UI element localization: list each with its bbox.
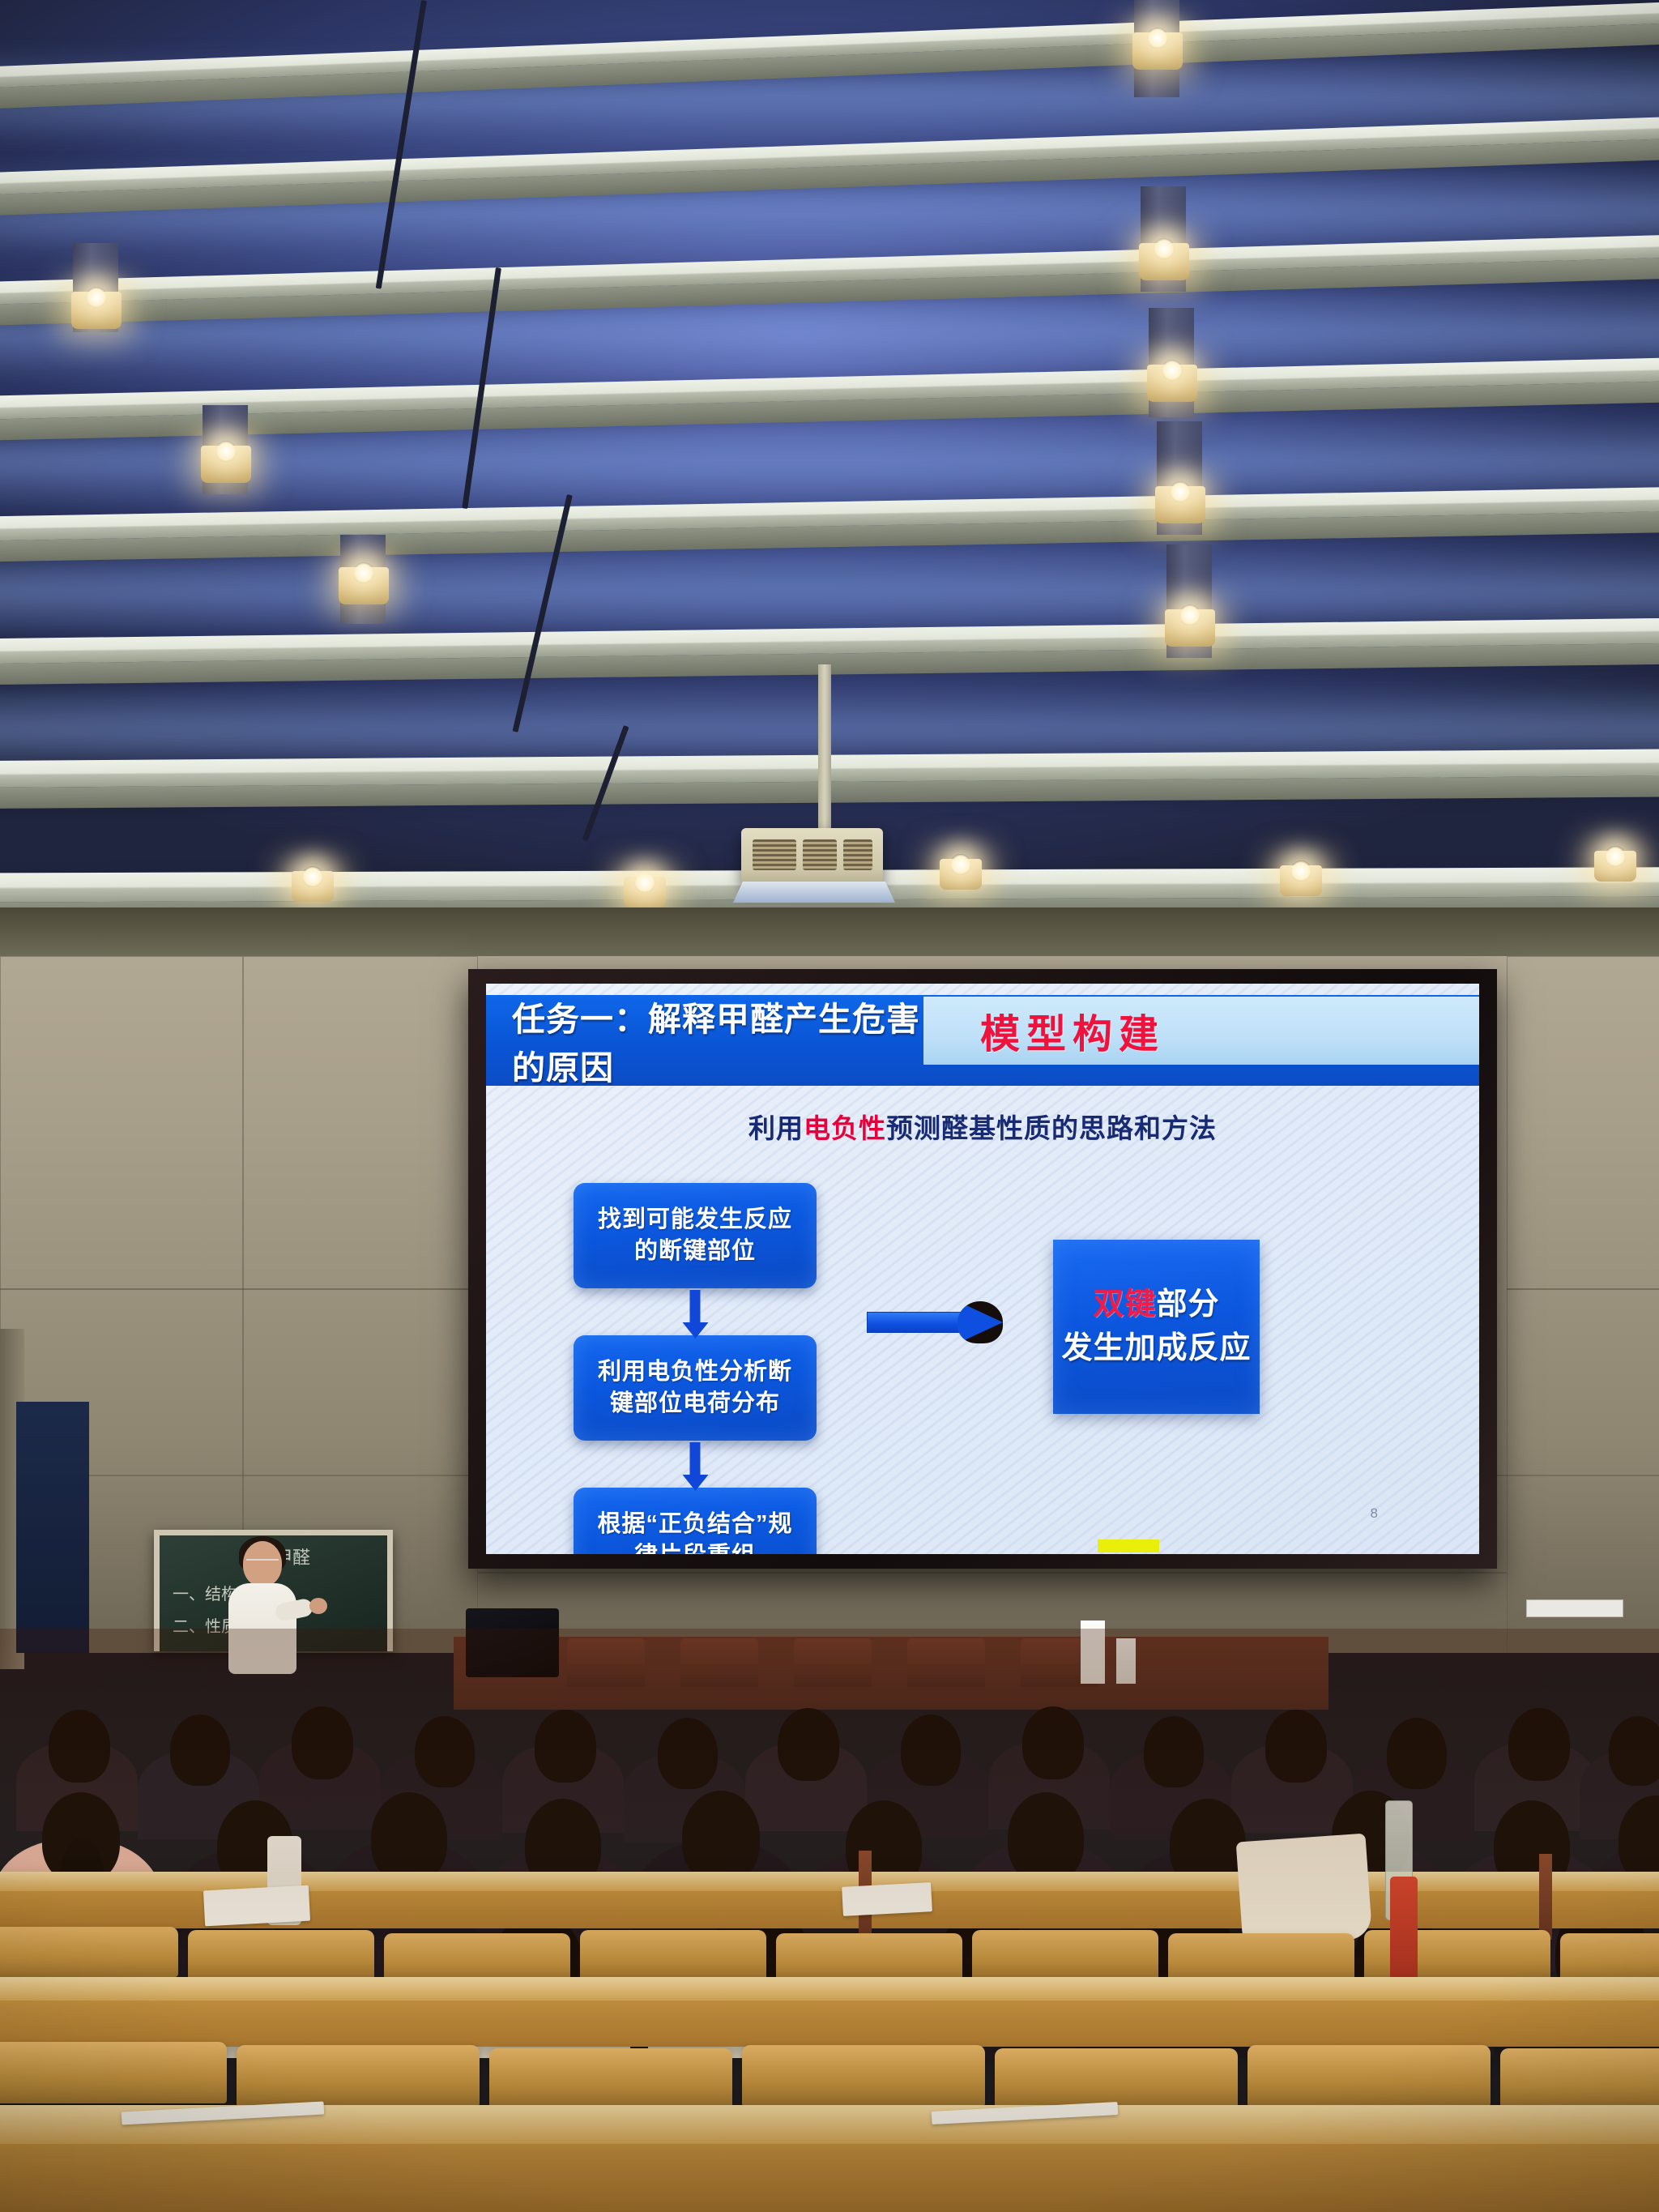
ceiling (0, 0, 1659, 964)
seat-back (237, 2045, 480, 2107)
bench-row (0, 2105, 1659, 2212)
projection-screen-frame: 任务一：解释甲醛产生危害的原因 模型构建 利用电负性预测醛基性质的思路和方法 找… (468, 969, 1497, 1569)
bench-row (0, 1977, 1659, 2047)
ceiling-lamp (624, 877, 666, 907)
seat-back (0, 1927, 178, 1977)
subtitle-highlight: 电负性 (804, 1113, 886, 1143)
ceiling-lamp (1132, 32, 1183, 70)
slide-header: 任务一：解释甲醛产生危害的原因 模型构建 (486, 995, 1479, 1086)
notebook (203, 1885, 310, 1927)
slide-section-label: 模型构建 (980, 1002, 1165, 1060)
notebook (842, 1882, 932, 1916)
yellow-sticker (1098, 1539, 1159, 1552)
water-bottle (1390, 1877, 1418, 1980)
ceiling-lamp (201, 446, 251, 483)
flow-result-box: 双键部分 发生加成反应 (1053, 1240, 1260, 1414)
seat-back (972, 1930, 1158, 1980)
ceiling-lamp (71, 292, 122, 329)
slide-section-banner: 模型构建 (923, 997, 1479, 1065)
ceiling-lamp (1280, 865, 1322, 896)
seat-back (1168, 1933, 1354, 1984)
flow-step-3: 根据“正负结合”规 律片段重组 (574, 1488, 817, 1554)
result-highlight: 双键 (1093, 1287, 1156, 1322)
result-line2: 发生加成反应 (1061, 1327, 1251, 1370)
presentation-slide: 任务一：解释甲醛产生危害的原因 模型构建 利用电负性预测醛基性质的思路和方法 找… (486, 984, 1479, 1554)
result-line1-rest: 部分 (1157, 1287, 1220, 1322)
projector-mount (818, 664, 831, 835)
seat-back (1247, 2045, 1491, 2107)
slide-subtitle: 利用电负性预测醛基性质的思路和方法 (486, 1107, 1479, 1146)
subtitle-part1: 利用 (748, 1113, 804, 1143)
flow-arrow-right-icon (867, 1306, 1003, 1339)
ceiling-projector (741, 828, 883, 886)
projector-base-plate (733, 882, 895, 903)
flow-step-2: 利用电负性分析断 键部位电荷分布 (574, 1335, 817, 1441)
seat-back (188, 1930, 374, 1980)
wall-sign (1526, 1599, 1623, 1617)
glasses-icon (246, 1559, 279, 1566)
seat-back (0, 2042, 227, 2103)
slide-page-number: 8 (1371, 1505, 1378, 1522)
flow-step-2-line1: 利用电负性分析断 (598, 1356, 792, 1388)
seat-back (1500, 2048, 1659, 2110)
ceiling-lamp (940, 859, 982, 890)
ceiling-lamp (1594, 851, 1636, 882)
seat-back (742, 2045, 985, 2107)
seat-back (384, 1933, 570, 1984)
seat-back (489, 2048, 732, 2110)
flow-step-2-line2: 键部位电荷分布 (610, 1388, 780, 1420)
flow-step-3-line2: 律片段重组 (634, 1540, 756, 1554)
ceiling-lamp (1147, 365, 1197, 402)
slide-task-banner: 任务一：解释甲醛产生危害的原因 (486, 995, 923, 1086)
seat-back (776, 1933, 962, 1984)
side-doorway (16, 1402, 89, 1653)
flow-step-1-line2: 的断键部位 (634, 1236, 756, 1267)
seat-back (580, 1930, 766, 1980)
lecture-hall-photo: 任务一：解释甲醛产生危害的原因 模型构建 利用电负性预测醛基性质的思路和方法 找… (0, 0, 1659, 2212)
flow-diagram: 找到可能发生反应 的断键部位 利用电负性分析断 键部位电荷分布 根据“正负结合”… (574, 1183, 817, 1554)
flow-arrow-down-icon (690, 1290, 701, 1324)
flow-step-1: 找到可能发生反应 的断键部位 (574, 1183, 817, 1288)
ceiling-lamp (339, 567, 389, 604)
slide-task-label: 任务一：解释甲醛产生危害的原因 (512, 992, 923, 1089)
ceiling-lamp (1165, 609, 1215, 647)
ceiling-lamp (1139, 243, 1189, 280)
seat-back (995, 2048, 1238, 2110)
ceiling-lamp (292, 871, 334, 902)
flow-step-3-line1: 根据“正负结合”规 (597, 1509, 792, 1540)
flow-step-1-line1: 找到可能发生反应 (598, 1204, 792, 1236)
subtitle-part2: 预测醛基性质的思路和方法 (886, 1113, 1217, 1143)
seat-back (1560, 1933, 1659, 1984)
tote-bag (1236, 1834, 1373, 1948)
ceiling-lamp (1155, 486, 1205, 523)
flow-arrow-down-icon (690, 1442, 701, 1476)
